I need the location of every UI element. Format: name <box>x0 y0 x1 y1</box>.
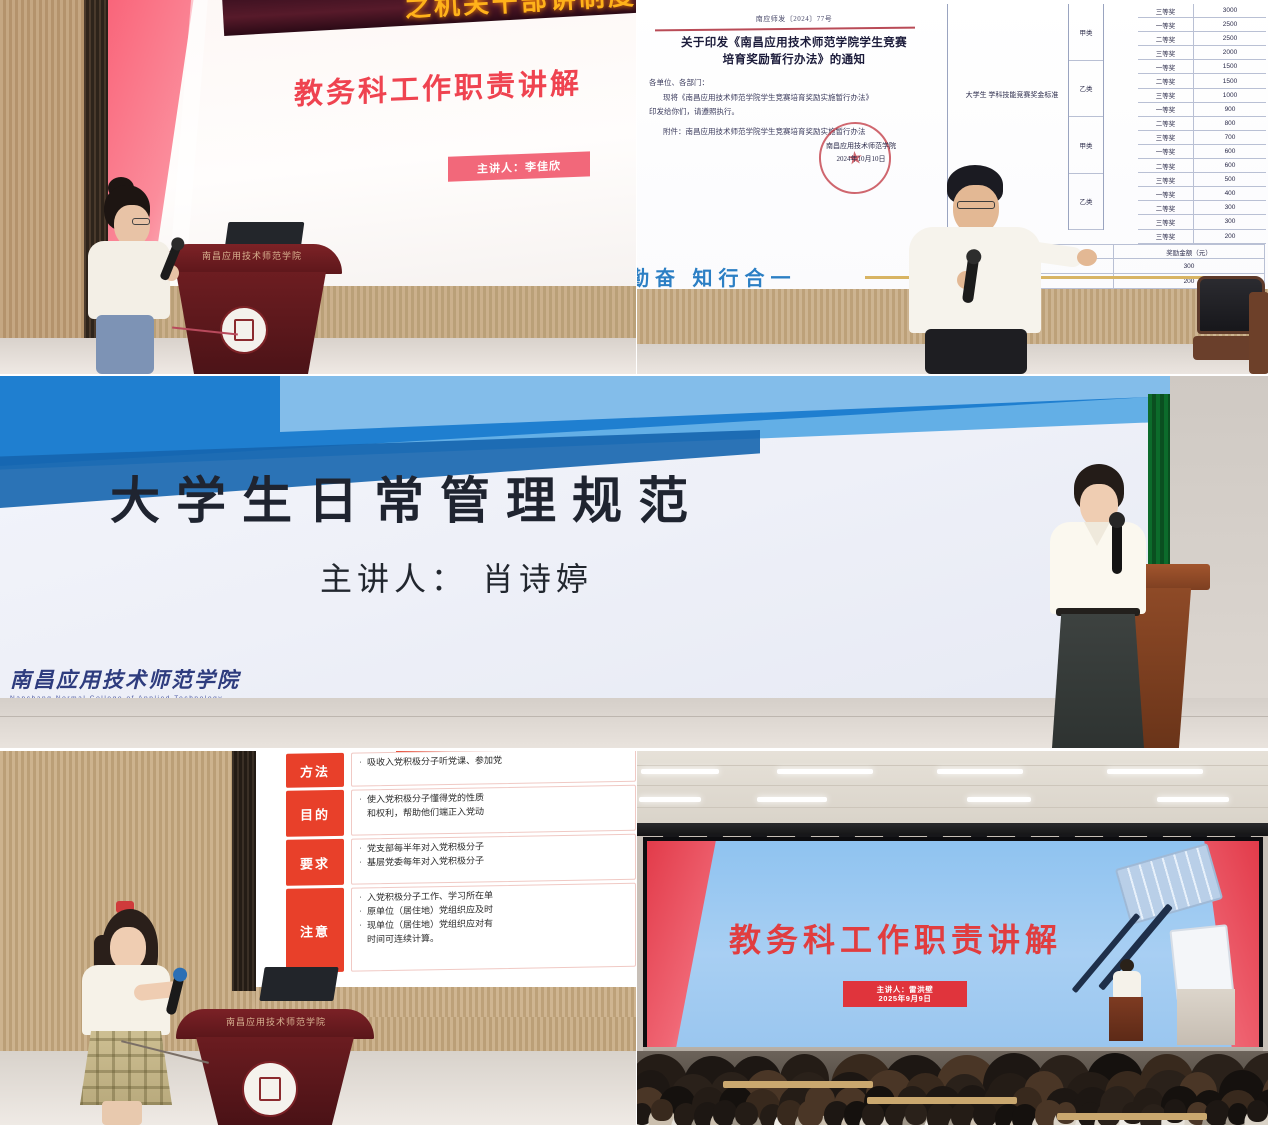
podium-top: 南昌应用技术师范学院 <box>176 1009 374 1039</box>
slide-date-label: 2025年9月9日 <box>879 994 932 1003</box>
table-cell-grade: 二等奖 <box>1138 74 1194 87</box>
slide-bullet: 吸收入党积极分子听党课、参加党 <box>357 752 630 771</box>
photo-top-right: 南应师发〔2024〕77号 关于印发《南昌应用技术师范学院学生竞赛 培育奖励暂行… <box>637 0 1268 374</box>
slide-row: 注意入党积极分子工作、学习所在单原单位（居住地）党组织应及时现单位（居住地）党组… <box>286 883 636 973</box>
table-cell-grade: 三等奖 <box>1138 215 1194 228</box>
speaker-figure <box>895 165 1055 374</box>
school-emblem <box>242 1061 298 1117</box>
slide-speaker-chip: 主讲人：李佳欣 <box>448 151 590 181</box>
led-wall-screen: 教务科工作职责讲解 主讲人：雷洪壁 2025年9月9日 <box>643 837 1263 1051</box>
slide-speaker-label: 主讲人：雷洪壁 <box>877 985 934 994</box>
table-cell-amount: 1000 <box>1194 89 1266 102</box>
doc-title-line2: 培育奖励暂行办法》的通知 <box>649 52 939 69</box>
table-cell-grade: 二等奖 <box>1138 159 1194 172</box>
speaker-figure <box>1032 464 1164 748</box>
podium <box>1109 997 1143 1041</box>
doc-title-line1: 关于印发《南昌应用技术师范学院学生竞赛 <box>649 35 939 52</box>
table-cell-grade: 三等奖 <box>1138 173 1194 186</box>
slide-subtitle: 主讲人： 肖诗婷 <box>320 554 940 600</box>
podium: 南昌应用技术师范学院 <box>160 244 342 374</box>
audience-member <box>637 1103 652 1124</box>
ceiling-light-tube <box>937 769 1023 774</box>
glasses-icon <box>132 218 150 225</box>
audience-member <box>1247 1100 1268 1122</box>
grade-cell: 甲类 <box>1069 4 1103 61</box>
school-logo-cn: 南昌应用技术师范学院 <box>10 664 330 694</box>
audience-desk <box>1057 1113 1207 1120</box>
slide-row: 目的使入党积极分子懂得党的性质和权利，帮助他们端正入党动 <box>286 785 636 837</box>
photo-bottom-right: 教务科工作职责讲解 主讲人：雷洪壁 2025年9月9日 <box>637 751 1268 1125</box>
grade-cell: 乙类 <box>1069 61 1103 118</box>
grid-gap-horizontal-1 <box>0 374 1268 376</box>
ceiling-light-tube <box>1107 769 1203 774</box>
ceiling-light-tube <box>777 769 873 774</box>
slide-row-text: 入党积极分子工作、学习所在单原单位（居住地）党组织应及时现单位（居住地）党组织应… <box>351 883 636 972</box>
table-cell-amount: 400 <box>1194 187 1266 200</box>
microphone-icon <box>1112 522 1122 574</box>
table-cell-amount: 2000 <box>1194 46 1266 59</box>
table-cell-amount: 200 <box>1194 230 1266 243</box>
table-cell-amount: 700 <box>1194 131 1266 144</box>
table-cell-amount: 1500 <box>1194 60 1266 73</box>
projection-screen: 大学生日常管理规范 主讲人： 肖诗婷 南昌应用技术师范学院 Nanchang N… <box>0 376 1170 706</box>
table-row: 三等奖1000 <box>1138 89 1266 103</box>
table-cell-amount: 300 <box>1194 215 1266 228</box>
table-row-label: 大学生 学科技能竞赛奖金标准 <box>956 90 1068 101</box>
school-logo: 南昌应用技术师范学院 Nanchang Normal College of Ap… <box>10 664 330 702</box>
table-row: 三等奖3000 <box>1138 4 1266 18</box>
grid-gap-vertical-top <box>636 0 637 374</box>
table-row: 一等奖1500 <box>1138 60 1266 74</box>
speaker-figure <box>78 185 174 374</box>
ceiling-slab <box>637 765 1268 766</box>
table-cell-amount: 900 <box>1194 103 1266 116</box>
audience-member <box>798 1100 823 1125</box>
doc-attachment: 附件：南昌应用技术师范学院学生竞赛培育奖励实施暂行办法 <box>649 125 939 139</box>
table-cell-amount: 1500 <box>1194 74 1266 87</box>
podium-engraving: 南昌应用技术师范学院 <box>198 249 306 267</box>
table-cell-grade: 三等奖 <box>1138 230 1194 243</box>
table-cell-grade: 一等奖 <box>1138 18 1194 31</box>
microphone-head <box>1109 512 1125 528</box>
table-cell-amount: 500 <box>1194 173 1266 186</box>
audience-member <box>713 1100 737 1125</box>
slide-title: 大学生日常管理规范 <box>110 461 910 533</box>
table-cell-amount: 600 <box>1194 159 1266 172</box>
slide-rows: 方法吸收入党积极分子听党课、参加党目的使入党积极分子懂得党的性质和权利，帮助他们… <box>286 751 636 976</box>
lighting-truss <box>637 823 1268 836</box>
glasses-icon <box>957 201 995 209</box>
photo-middle: 大学生日常管理规范 主讲人： 肖诗婷 南昌应用技术师范学院 Nanchang N… <box>0 376 1268 748</box>
laptop <box>259 967 338 1001</box>
doc-body-line1: 现将《南昌应用技术师范学院学生竞赛培育奖励实施暂行办法》 <box>649 91 939 105</box>
grid-gap-horizontal-2 <box>0 748 1268 751</box>
doc-signature-block: 南昌应用技术师范学院 2024年10月10日 <box>813 140 909 167</box>
slide-row-label: 方法 <box>286 753 344 788</box>
podium-engraving: 南昌应用技术师范学院 <box>218 1015 334 1028</box>
doc-addressee: 各单位、各部门： <box>649 76 939 90</box>
audience-desk <box>723 1081 873 1088</box>
ceiling-slab <box>637 807 1268 808</box>
doc-body-line2: 印发给你们，请遵照执行。 <box>649 105 939 119</box>
stage-chair-secondary <box>1249 292 1268 374</box>
table-cell-grade: 二等奖 <box>1138 201 1194 214</box>
table-cell-amount: 600 <box>1194 145 1266 158</box>
table-cell-amount: 300 <box>1114 259 1264 273</box>
audience-member <box>651 1099 672 1121</box>
table-row: 二等奖300 <box>1138 201 1266 215</box>
table-row: 三等奖700 <box>1138 131 1266 145</box>
audience-member <box>862 1103 885 1125</box>
table-row: 一等奖2500 <box>1138 18 1266 32</box>
ceiling-light-tube <box>1157 797 1229 802</box>
ceiling-light-tube <box>641 769 719 774</box>
table-cell-grade: 一等奖 <box>1138 103 1194 116</box>
skirt <box>1052 614 1144 748</box>
slide-row: 方法吸收入党积极分子听党课、参加党 <box>286 751 636 788</box>
school-emblem <box>220 306 268 354</box>
audience-member <box>1012 1104 1037 1125</box>
pants <box>925 329 1027 374</box>
table-row: 三等奖2000 <box>1138 46 1266 60</box>
jeans <box>96 315 154 374</box>
table-cell-amount: 2500 <box>1194 32 1266 45</box>
audience-member <box>973 1102 998 1125</box>
ceiling-slab <box>637 785 1268 786</box>
slide-row-text: 吸收入党积极分子听党课、参加党 <box>351 751 636 787</box>
slide-keyboard-graphic <box>1115 843 1223 925</box>
table-cell-grade: 一等奖 <box>1138 60 1194 73</box>
grid-gap-vertical-bottom <box>636 751 637 1125</box>
grade-cell: 乙类 <box>1069 174 1103 231</box>
table-row: 三等奖200 <box>1138 230 1266 244</box>
table-cell-grade: 二等奖 <box>1138 32 1194 45</box>
slide-speaker-chip: 主讲人：雷洪壁 2025年9月9日 <box>843 981 967 1007</box>
slide-title: 教务科工作职责讲解 <box>729 915 1149 961</box>
table-row: 二等奖2500 <box>1138 32 1266 46</box>
right-hand <box>1077 249 1097 266</box>
table-row: 一等奖600 <box>1138 145 1266 159</box>
table-cell-grade: 三等奖 <box>1138 131 1194 144</box>
table-cell-amount: 2500 <box>1194 18 1266 31</box>
slide-title: 教务科工作职责讲解 <box>294 57 636 113</box>
table-row: 二等奖800 <box>1138 117 1266 131</box>
shirt <box>88 241 170 319</box>
grade-cell: 甲类 <box>1069 117 1103 174</box>
shirt <box>82 965 170 1035</box>
table-row: 三等奖500 <box>1138 173 1266 187</box>
slide-row-text: 党支部每半年对入党积极分子基层党委每年对入党积极分子 <box>351 834 636 885</box>
table-row: 二等奖600 <box>1138 159 1266 173</box>
doc-number: 南应师发〔2024〕77号 <box>649 14 939 24</box>
table-header-amount: 奖励金额（元） <box>1114 245 1264 258</box>
ceiling-light-tube <box>967 797 1031 802</box>
photo-bottom-left: 方法吸收入党积极分子听党课、参加党目的使入党积极分子懂得党的性质和权利，帮助他们… <box>0 751 636 1125</box>
table-cell-grade: 三等奖 <box>1138 4 1194 17</box>
legs <box>102 1101 142 1125</box>
audience <box>637 1051 1268 1125</box>
photo-collage: 教务科工作职责讲解 主讲人：李佳欣 之机关干部讲制度 南昌应用技术师范学院 <box>0 0 1268 1125</box>
table-row: 一等奖900 <box>1138 103 1266 117</box>
podium: 南昌应用技术师范学院 <box>176 1009 374 1125</box>
doc-red-rule <box>655 27 915 32</box>
table-cell-grade: 一等奖 <box>1138 145 1194 158</box>
slide-row-label: 目的 <box>286 790 344 837</box>
table-row: 二等奖1500 <box>1138 74 1266 88</box>
table-cell-grade: 二等奖 <box>1138 117 1194 130</box>
slide-speaker-label: 主讲人：李佳欣 <box>477 157 561 176</box>
table-cell-amount: 800 <box>1194 117 1266 130</box>
seal-org: 南昌应用技术师范学院 <box>813 140 909 153</box>
speaker-figure <box>72 909 182 1125</box>
slide-row-label: 注意 <box>286 888 344 973</box>
ceiling-light-tube <box>757 797 827 802</box>
podium-top: 南昌应用技术师范学院 <box>160 244 342 274</box>
table-cell-grade: 三等奖 <box>1138 46 1194 59</box>
table-grade-column: 甲类 乙类 甲类 乙类 <box>1068 4 1104 230</box>
audience-member <box>905 1102 927 1125</box>
audience-member <box>735 1102 758 1125</box>
audience-member <box>1228 1103 1249 1125</box>
table-row: 一等奖400 <box>1138 187 1266 201</box>
table-row: 三等奖300 <box>1138 215 1266 229</box>
projection-screen: 方法吸收入党积极分子听党课、参加党目的使入党积极分子懂得党的性质和权利，帮助他们… <box>256 751 636 998</box>
ceiling-light-tube <box>639 797 701 802</box>
photo-top-left: 教务科工作职责讲解 主讲人：李佳欣 之机关干部讲制度 南昌应用技术师范学院 <box>0 0 636 374</box>
slide-row: 要求党支部每半年对入党积极分子基层党委每年对入党积极分子 <box>286 834 636 886</box>
audience-member <box>1205 1100 1230 1125</box>
audience-desk <box>867 1097 1017 1104</box>
ceiling <box>637 751 1268 827</box>
table-rows: 三等奖3000一等奖2500二等奖2500三等奖2000一等奖1500二等奖15… <box>1138 4 1266 244</box>
table-cell-amount: 3000 <box>1194 4 1266 17</box>
slide-red-left <box>647 841 733 1047</box>
school-motto: 勤奋 知行合一 <box>637 262 797 291</box>
slide-row-label: 要求 <box>286 839 344 886</box>
table-cell-amount: 300 <box>1194 201 1266 214</box>
table-cell-grade: 三等奖 <box>1138 89 1194 102</box>
side-lectern <box>1177 989 1235 1045</box>
table-cell-grade: 一等奖 <box>1138 187 1194 200</box>
slide-row-text: 使入党积极分子懂得党的性质和权利，帮助他们端正入党动 <box>351 785 636 836</box>
